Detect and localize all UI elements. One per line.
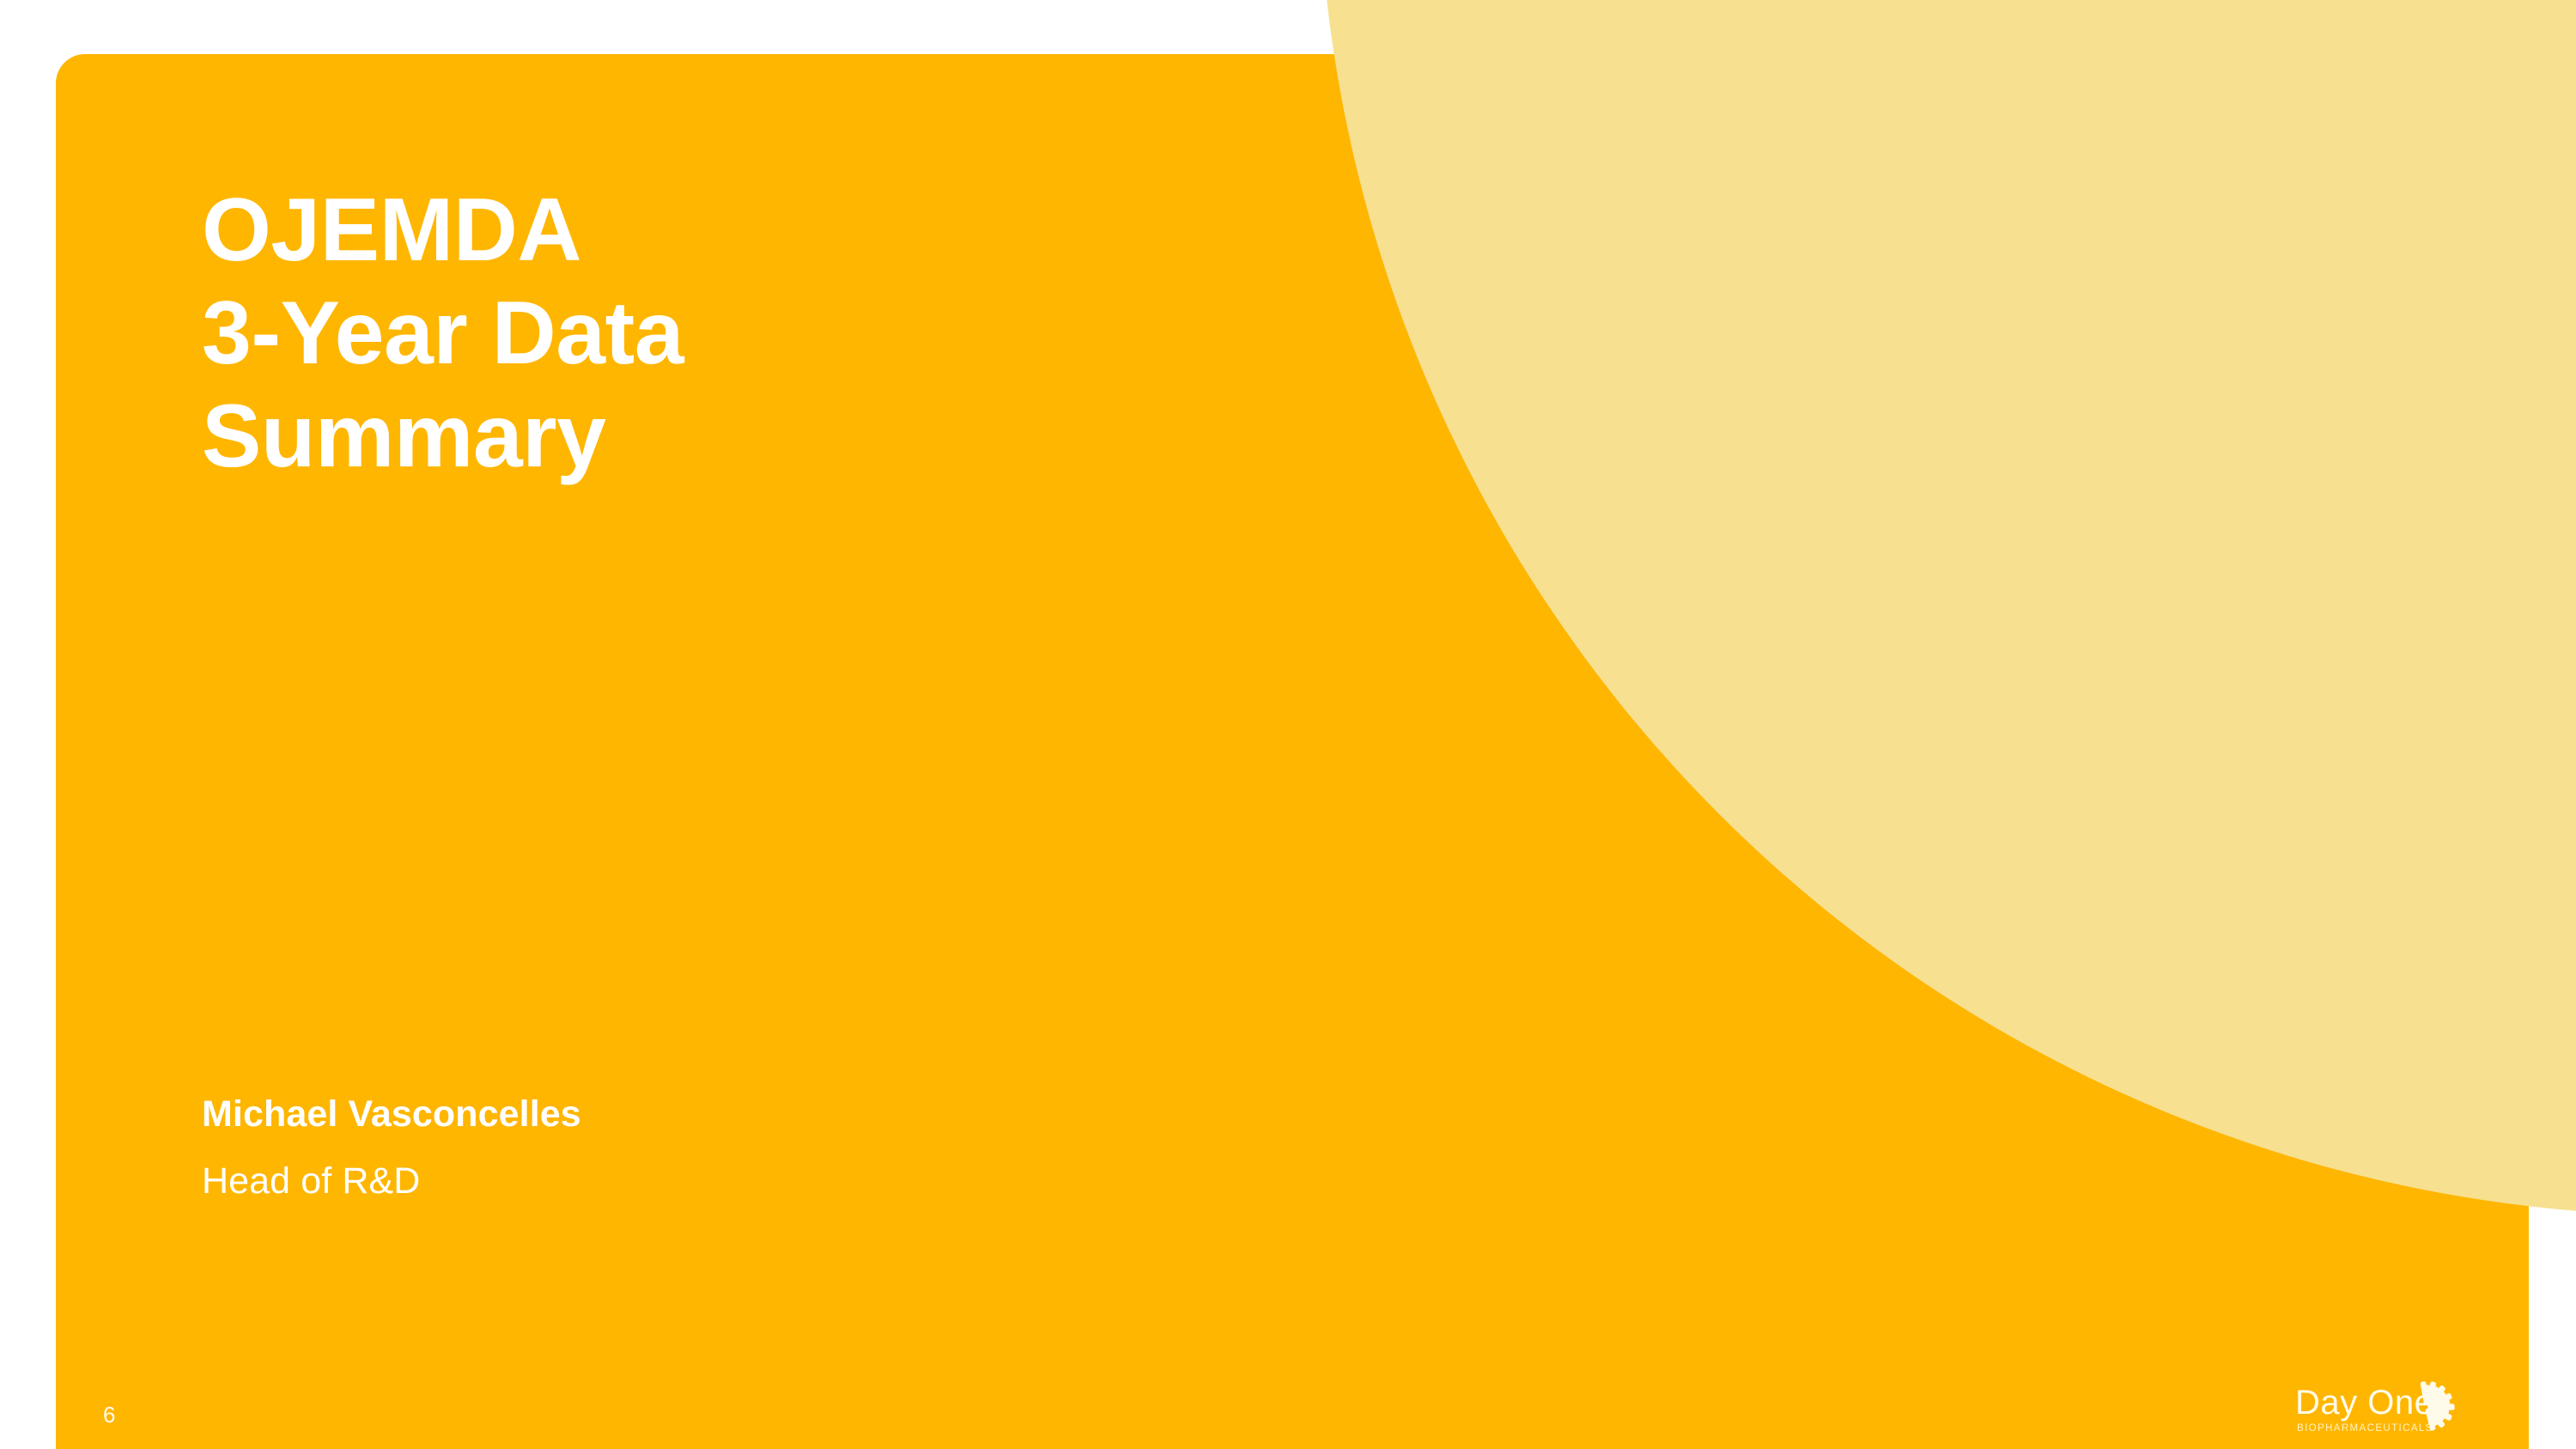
page-title: OJEMDA 3-Year Data Summary	[202, 185, 1189, 482]
page-number: 6	[103, 1402, 115, 1428]
company-logo: Day One BIOPHARMACEUTICALS	[2295, 1366, 2467, 1438]
title-line-1: OJEMDA	[202, 185, 1189, 276]
presenter-role: Head of R&D	[202, 1160, 1146, 1204]
title-line-3: Summary	[202, 391, 1189, 482]
presenter-block: Michael Vasconcelles Head of R&D	[202, 1093, 1146, 1203]
logo-tagline: BIOPHARMACEUTICALS	[2297, 1423, 2433, 1434]
logo-wordmark: Day One	[2295, 1384, 2433, 1422]
title-line-2: 3-Year Data	[202, 288, 1189, 379]
slide-canvas: OJEMDA 3-Year Data Summary Michael Vasco…	[0, 0, 2576, 1449]
presenter-name: Michael Vasconcelles	[202, 1093, 1146, 1137]
day-one-logo-icon: Day One BIOPHARMACEUTICALS	[2295, 1366, 2467, 1438]
